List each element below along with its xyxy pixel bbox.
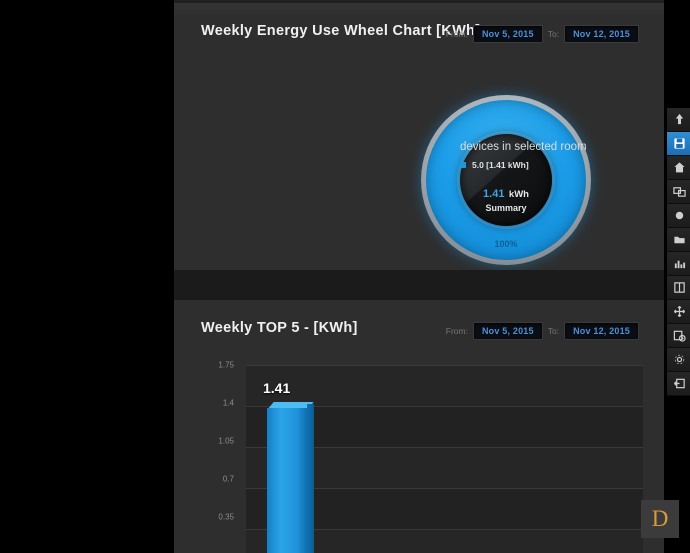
panel-top-sheen xyxy=(174,3,664,17)
wheel-to-date-input[interactable]: Nov 12, 2015 xyxy=(564,25,639,43)
brand-badge[interactable]: D xyxy=(641,500,679,538)
chart-grid-band xyxy=(246,365,643,406)
sidebar-item-logout[interactable] xyxy=(667,372,690,396)
legend-color-swatch xyxy=(460,162,466,168)
bars-panel-header: Weekly TOP 5 - [KWh] From: Nov 5, 2015 T… xyxy=(174,316,664,350)
wheel-value-line: 1.41 kWh xyxy=(460,183,552,203)
brand-badge-letter: D xyxy=(652,506,669,532)
legend-item[interactable]: 5.0 [1.41 kWh] xyxy=(460,160,587,170)
sidebar-item-circle[interactable] xyxy=(667,204,690,228)
top5-date-range: From: Nov 5, 2015 To: Nov 12, 2015 xyxy=(446,322,639,340)
sidebar-item-folder[interactable] xyxy=(667,228,690,252)
sidebar-item-schedule[interactable] xyxy=(667,324,690,348)
y-axis-tick-label: 0.35 xyxy=(174,513,234,522)
wheel-from-label: From: xyxy=(446,29,468,39)
bar-chart-plot-area xyxy=(246,365,643,553)
bar-value-label: 1.41 xyxy=(263,380,290,396)
energy-wheel-chart[interactable]: 1.41 kWh Summary 100% xyxy=(421,95,591,265)
app-root: Weekly Energy Use Wheel Chart [KWh] From… xyxy=(0,0,690,553)
main-content: Weekly Energy Use Wheel Chart [KWh] From… xyxy=(174,0,664,553)
top5-from-label: From: xyxy=(446,326,468,336)
top5-to-label: To: xyxy=(548,326,559,336)
top5-from-date-input[interactable]: Nov 5, 2015 xyxy=(473,322,543,340)
logout-icon xyxy=(673,377,686,390)
sidebar-item-upload-arrow[interactable] xyxy=(667,108,690,132)
wheel-percent-label: 100% xyxy=(421,239,591,249)
sidebar-item-devices[interactable] xyxy=(667,180,690,204)
wheel-caption: Summary xyxy=(460,203,552,214)
home-icon xyxy=(673,161,686,174)
wheel-unit: kWh xyxy=(509,189,529,200)
bar-item[interactable] xyxy=(267,402,314,553)
top5-to-date-input[interactable]: Nov 12, 2015 xyxy=(564,322,639,340)
settings-icon xyxy=(673,353,686,366)
devices-icon xyxy=(673,185,686,198)
folder-icon xyxy=(673,233,686,246)
bar-front-face xyxy=(267,408,307,553)
schedule-icon xyxy=(673,329,686,342)
wheel-panel-header: Weekly Energy Use Wheel Chart [KWh] From… xyxy=(174,19,664,53)
y-axis-tick-label: 1.05 xyxy=(174,437,234,446)
wheel-legend: devices in selected room 5.0 [1.41 kWh] xyxy=(460,141,587,170)
y-axis-tick-label: 1.4 xyxy=(174,399,234,408)
top5-title: Weekly TOP 5 - [KWh] xyxy=(201,320,358,336)
y-axis-tick-label: 1.75 xyxy=(174,361,234,370)
wheel-date-range: From: Nov 5, 2015 To: Nov 12, 2015 xyxy=(446,25,639,43)
sidebar-item-chart[interactable] xyxy=(667,252,690,276)
sidebar-item-home[interactable] xyxy=(667,156,690,180)
wheel-center-readout: 1.41 kWh Summary xyxy=(460,183,552,214)
rooms-icon xyxy=(673,281,686,294)
panel-top5-chart: Weekly TOP 5 - [KWh] From: Nov 5, 2015 T… xyxy=(174,300,664,553)
wheel-to-label: To: xyxy=(548,29,559,39)
circle-icon xyxy=(673,209,686,222)
chart-icon xyxy=(673,257,686,270)
legend-item-label: 5.0 [1.41 kWh] xyxy=(472,160,529,170)
wheel-value: 1.41 xyxy=(483,188,504,200)
sidebar-item-settings[interactable] xyxy=(667,348,690,372)
sidebar-item-save[interactable] xyxy=(667,132,690,156)
panel-divider xyxy=(174,270,664,300)
sidebar-item-rooms[interactable] xyxy=(667,276,690,300)
panel-wheel-chart: Weekly Energy Use Wheel Chart [KWh] From… xyxy=(174,0,664,270)
bar-side-face xyxy=(307,404,314,553)
wheel-from-date-input[interactable]: Nov 5, 2015 xyxy=(473,25,543,43)
save-icon xyxy=(673,137,686,150)
legend-title: devices in selected room xyxy=(460,141,587,153)
upload-arrow-icon xyxy=(673,113,686,126)
tool-sidebar xyxy=(666,108,690,396)
sidebar-item-move[interactable] xyxy=(667,300,690,324)
move-icon xyxy=(673,305,686,318)
y-axis-tick-label: 0.7 xyxy=(174,475,234,484)
page-title: Weekly Energy Use Wheel Chart [KWh] xyxy=(201,23,480,39)
